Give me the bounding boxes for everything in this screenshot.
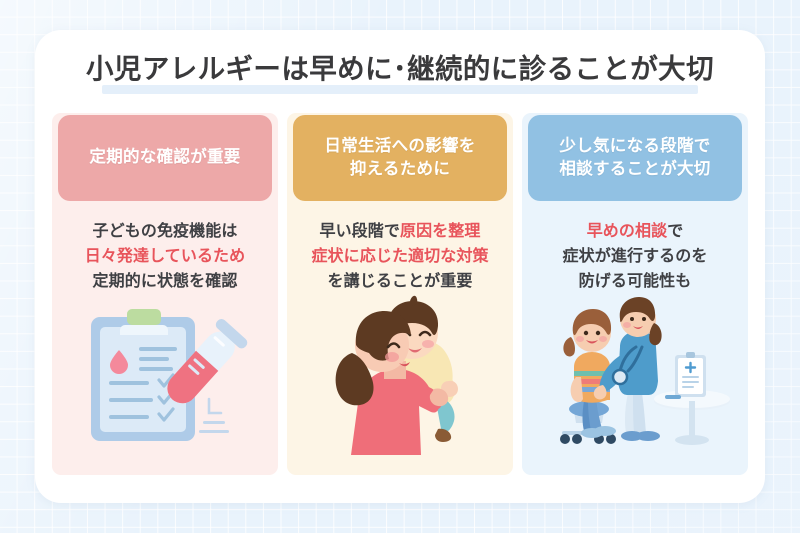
column-3-body-line-2: 症状が進行するのを [528,245,742,270]
column-3-body-line-3: 防げる可能性も [528,270,742,295]
clipboard-checklist-test-tube-icon [75,303,255,453]
column-3-body-line-1-plain: で [667,223,683,240]
column-3-illustration-area [522,295,748,475]
column-2-body-line-1-highlight: 原因を整理 [400,223,481,240]
column-2-header-line-2: 抑えるために [350,160,450,178]
column-2-body-line-1: 早い段階で原因を整理 [293,220,507,245]
column-2-body-line-2: 症状に応じた適切な対策 [293,245,507,270]
column-1-body: 子どもの免疫機能は 日々発達しているため 定期的に状態を確認 [52,201,278,295]
column-1-header: 定期的な確認が重要 [58,115,272,201]
column-2-body-line-3: を講じることが重要 [293,270,507,295]
column-1-body-line-2: 日々発達しているため [58,245,272,270]
column-3-header-text: 少し気になる段階で 相談することが大切 [559,135,710,182]
column-3-header-line-2: 相談することが大切 [559,160,710,178]
column-2-illustration-area [287,295,513,475]
page-title-wrap: 小児アレルギーは早めに･継続的に診ることが大切 [35,52,765,90]
column-1-illustration-area [52,295,278,475]
column-2-body: 早い段階で原因を整理 症状に応じた適切な対策 を講じることが重要 [287,201,513,295]
column-2-header-text: 日常生活への影響を 抑えるために [324,135,475,182]
content-card: 小児アレルギーは早めに･継続的に診ることが大切 定期的な確認が重要 子どもの免疫… [35,30,765,503]
column-3-header-line-1: 少し気になる段階で [559,137,710,155]
columns-container: 定期的な確認が重要 子どもの免疫機能は 日々発達しているため 定期的に状態を確認 [52,113,748,475]
column-3-body-line-1-highlight: 早めの相談 [587,223,668,240]
column-2-body-line-1-plain: 早い段階で [319,223,400,240]
mother-holding-child-illustration [300,295,500,455]
column-daily-life: 日常生活への影響を 抑えるために 早い段階で原因を整理 症状に応じた適切な対策 … [287,113,513,475]
title-underline [102,85,698,94]
infographic-page: 小児アレルギーは早めに･継続的に診ることが大切 定期的な確認が重要 子どもの免疫… [0,0,800,533]
column-1-body-line-3: 定期的に状態を確認 [58,270,272,295]
column-3-body-line-1: 早めの相談で [528,220,742,245]
column-2-header: 日常生活への影響を 抑えるために [293,115,507,201]
page-title: 小児アレルギーは早めに･継続的に診ることが大切 [80,52,720,90]
column-regular-check: 定期的な確認が重要 子どもの免疫機能は 日々発達しているため 定期的に状態を確認 [52,113,278,475]
column-2-header-line-1: 日常生活への影響を [324,137,475,155]
column-3-body: 早めの相談で 症状が進行するのを 防げる可能性も [522,201,748,295]
column-3-header: 少し気になる段階で 相談することが大切 [528,115,742,201]
column-1-body-line-1: 子どもの免疫機能は [58,220,272,245]
column-early-consult: 少し気になる段階で 相談することが大切 早めの相談で 症状が進行するのを 防げる… [522,113,748,475]
page-title-text: 小児アレルギーは早めに･継続的に診ることが大切 [86,53,714,84]
doctor-examining-child-illustration [532,297,738,455]
column-1-header-line-1: 定期的な確認が重要 [89,146,240,169]
